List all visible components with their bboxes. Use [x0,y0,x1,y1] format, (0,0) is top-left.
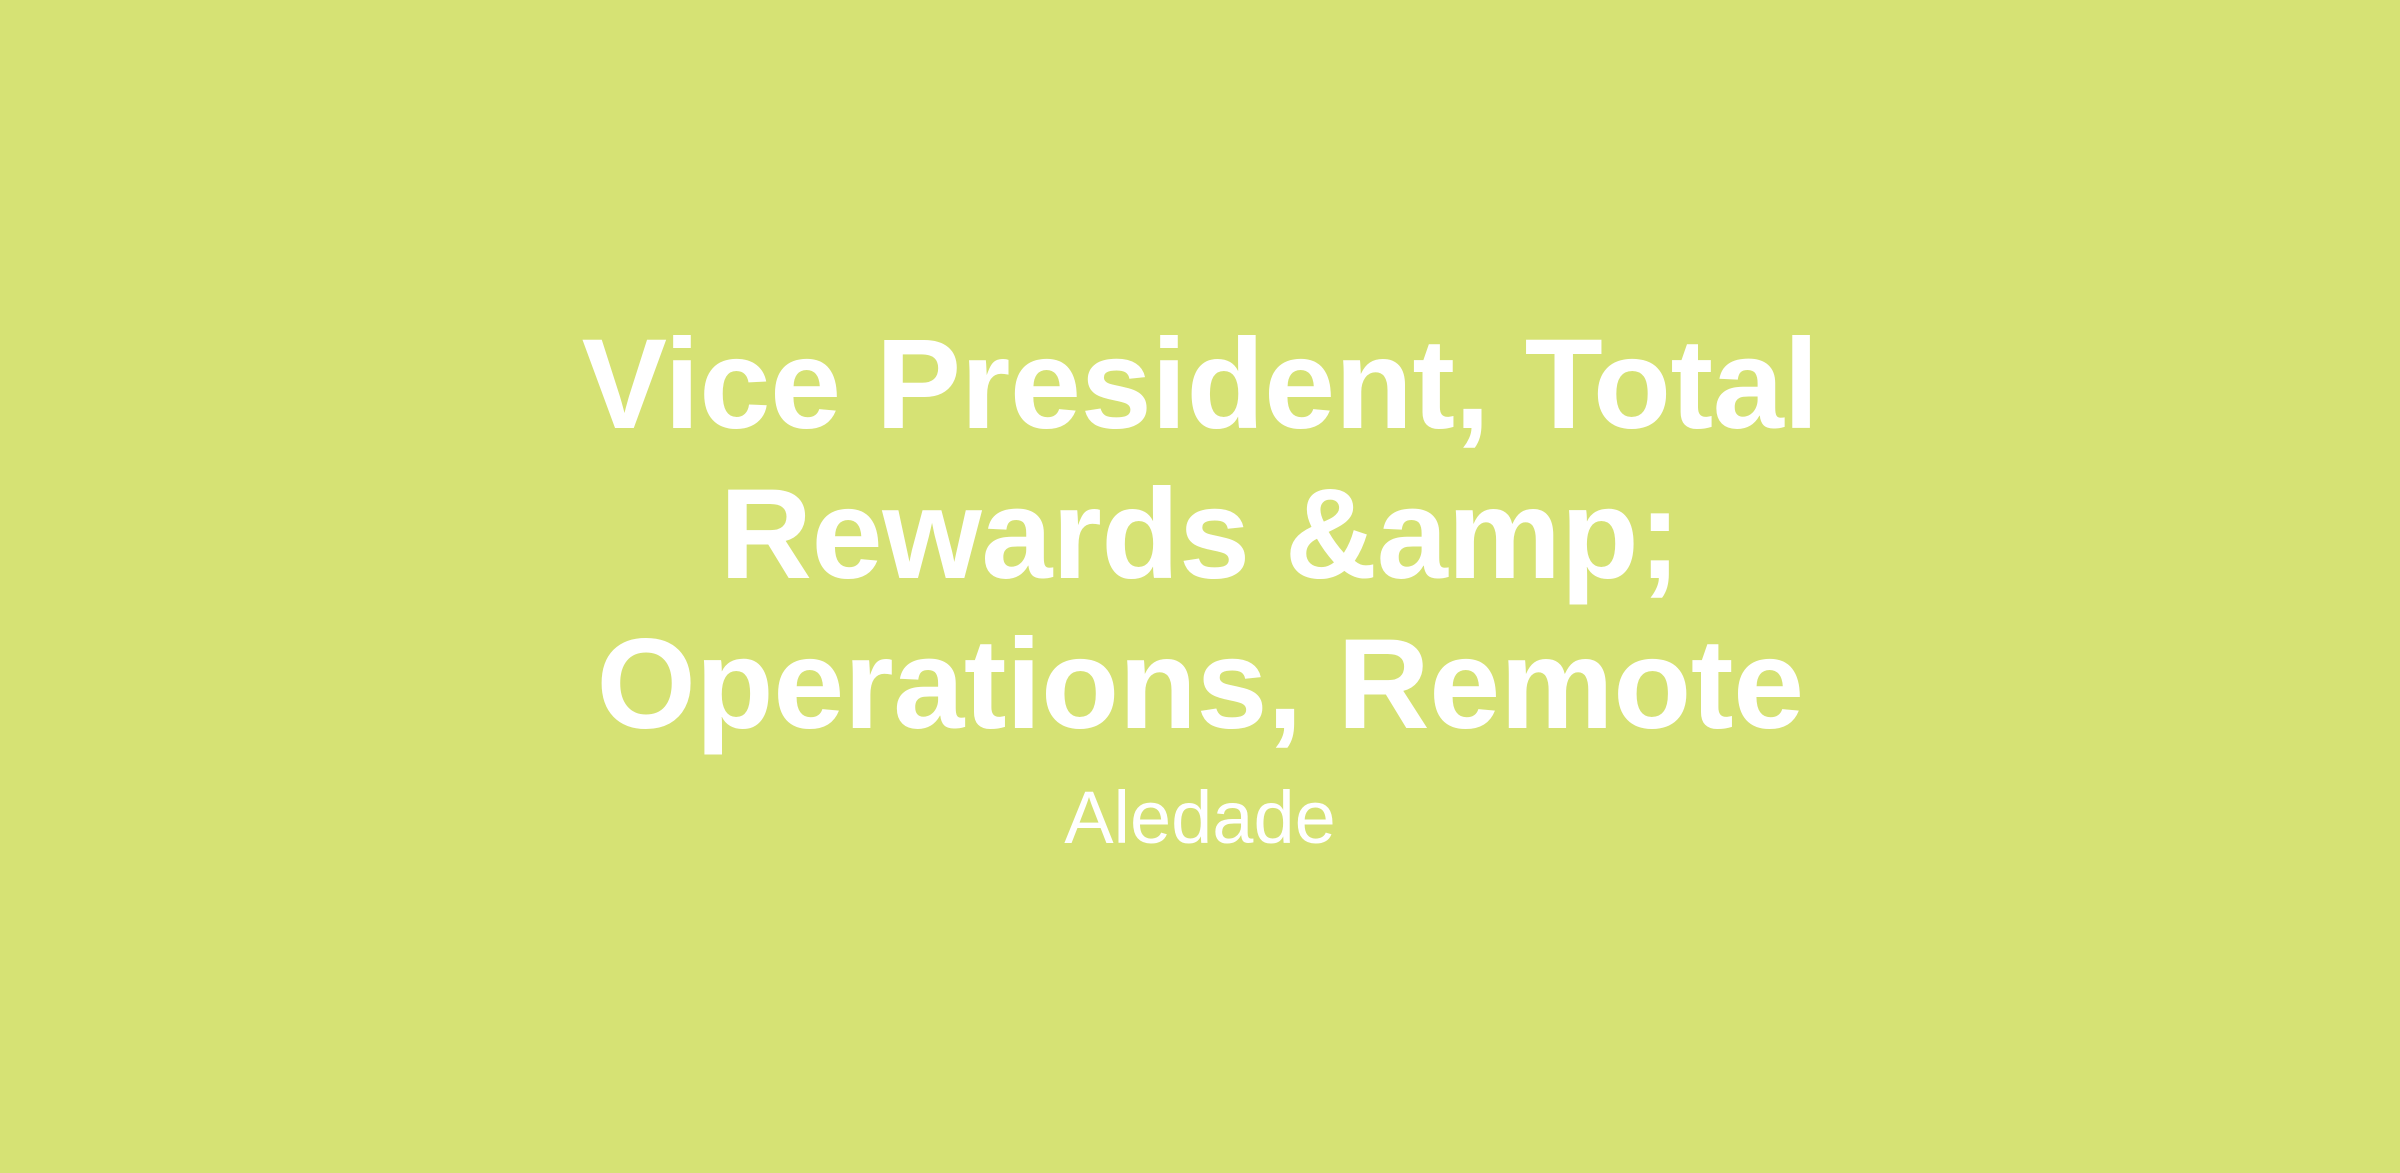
company-name: Aledade [360,774,2040,863]
job-title: Vice President, Total Rewards &amp; Oper… [360,310,2040,759]
card-content: Vice President, Total Rewards &amp; Oper… [360,310,2040,862]
job-share-card: Vice President, Total Rewards &amp; Oper… [0,0,2400,1173]
